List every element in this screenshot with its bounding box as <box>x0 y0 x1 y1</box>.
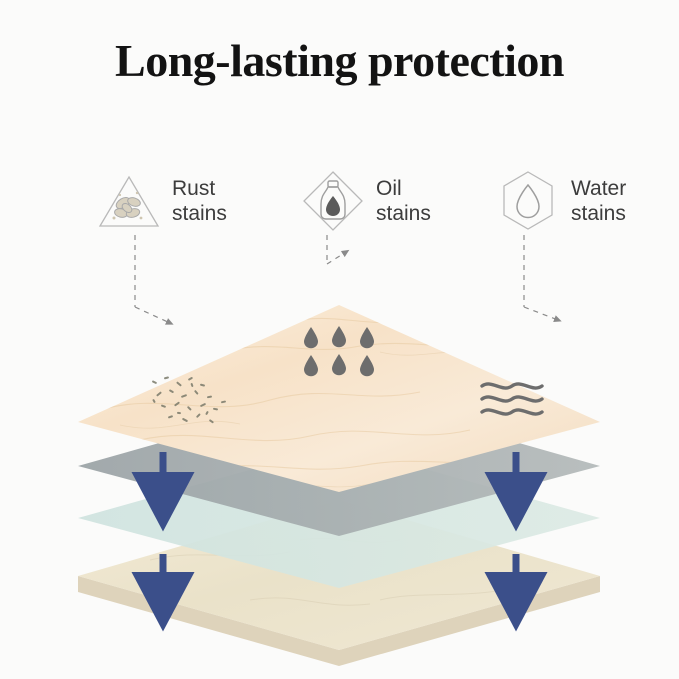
illustration-canvas: Long-lasting protection <box>0 0 679 679</box>
layer-stack-diagram <box>0 0 679 679</box>
